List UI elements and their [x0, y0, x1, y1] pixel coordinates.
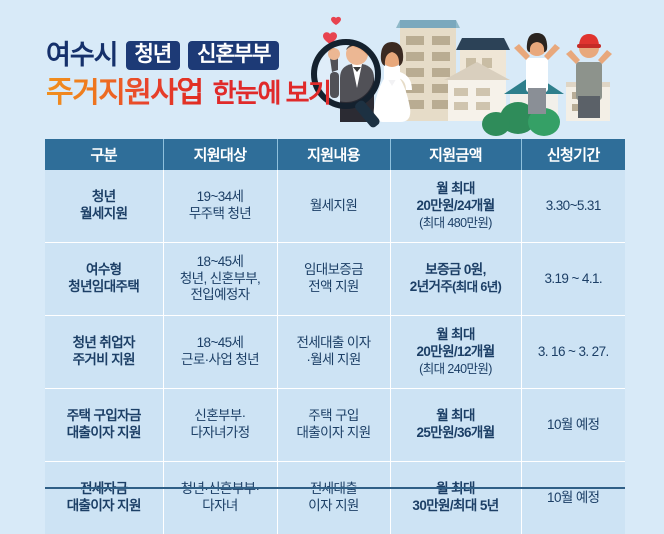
- title-line-one: 여수시 청년 신혼부부: [46, 38, 330, 72]
- cell-content: 주택 구입 대출이자 지원: [277, 389, 390, 462]
- page-subtitle: 한눈에 보기: [213, 80, 331, 106]
- cell-period: 3.30~5.31: [521, 170, 625, 243]
- cell-gubun: 주택 구입자금 대출이자 지원: [45, 389, 163, 462]
- city-name: 여수시: [46, 42, 118, 69]
- cell-target: 18~45세 청년, 신혼부부, 전입예정자: [163, 243, 277, 316]
- tag-newlywed: 신혼부부: [188, 41, 279, 70]
- cell-period: 10월 예정: [521, 462, 625, 534]
- poster-root: 여수시 청년 신혼부부 주거지원사업 한눈에 보기 구분 지원대: [0, 0, 664, 532]
- cell-gubun: 전세자금 대출이자 지원: [45, 462, 163, 534]
- support-programs-table: 구분 지원대상 지원내용 지원금액 신청기간 청년 월세지원 19~34세: [45, 139, 625, 534]
- table-row: 전세자금 대출이자 지원 청년·신혼부부· 다자녀 전세대출 이자 지원 월 최…: [45, 462, 625, 534]
- title-block: 여수시 청년 신혼부부 주거지원사업 한눈에 보기: [46, 38, 330, 114]
- cell-gubun: 여수형 청년임대주택: [45, 243, 163, 316]
- cell-amount: 월 최대 25만원/36개월: [390, 389, 521, 462]
- cell-amount: 월 최대 20만원/24개월 (최대 480만원): [390, 170, 521, 243]
- column-header-content: 지원내용: [277, 139, 390, 170]
- cell-amount: 보증금 0원, 2년거주(최대 6년): [390, 243, 521, 316]
- table-header-row: 구분 지원대상 지원내용 지원금액 신청기간: [45, 139, 625, 170]
- support-programs-table-wrap: 구분 지원대상 지원내용 지원금액 신청기간 청년 월세지원 19~34세: [45, 139, 625, 534]
- poster-header: 여수시 청년 신혼부부 주거지원사업 한눈에 보기: [0, 0, 664, 139]
- column-header-amount: 지원금액: [390, 139, 521, 170]
- cell-gubun: 청년 취업자 주거비 지원: [45, 316, 163, 389]
- cell-content: 전세대출 이자 ·월세 지원: [277, 316, 390, 389]
- housing-support-illustration: [300, 0, 664, 139]
- page-title: 주거지원사업: [46, 78, 203, 108]
- title-line-two: 주거지원사업 한눈에 보기: [46, 78, 330, 114]
- cell-period: 10월 예정: [521, 389, 625, 462]
- table-bottom-rule: [45, 487, 625, 489]
- cell-target: 신혼부부· 다자녀가정: [163, 389, 277, 462]
- column-header-period: 신청기간: [521, 139, 625, 170]
- cell-period: 3. 16 ~ 3. 27.: [521, 316, 625, 389]
- cell-target: 청년·신혼부부· 다자녀: [163, 462, 277, 534]
- column-header-target: 지원대상: [163, 139, 277, 170]
- table-row: 청년 월세지원 19~34세 무주택 청년 월세지원 월 최대 20만원/24개…: [45, 170, 625, 243]
- cell-period: 3.19 ~ 4.1.: [521, 243, 625, 316]
- table-row: 청년 취업자 주거비 지원 18~45세 근로·사업 청년 전세대출 이자 ·월…: [45, 316, 625, 389]
- cell-content: 전세대출 이자 지원: [277, 462, 390, 534]
- cell-target: 18~45세 근로·사업 청년: [163, 316, 277, 389]
- cell-gubun: 청년 월세지원: [45, 170, 163, 243]
- cell-amount: 월 최대 20만원/12개월 (최대 240만원): [390, 316, 521, 389]
- tag-youth: 청년: [126, 41, 181, 70]
- column-header-gubun: 구분: [45, 139, 163, 170]
- table-row: 여수형 청년임대주택 18~45세 청년, 신혼부부, 전입예정자 임대보증금 …: [45, 243, 625, 316]
- table-row: 주택 구입자금 대출이자 지원 신혼부부· 다자녀가정 주택 구입 대출이자 지…: [45, 389, 625, 462]
- cell-content: 임대보증금 전액 지원: [277, 243, 390, 316]
- cell-content: 월세지원: [277, 170, 390, 243]
- cell-amount: 월 최대 30만원/최대 5년: [390, 462, 521, 534]
- cell-target: 19~34세 무주택 청년: [163, 170, 277, 243]
